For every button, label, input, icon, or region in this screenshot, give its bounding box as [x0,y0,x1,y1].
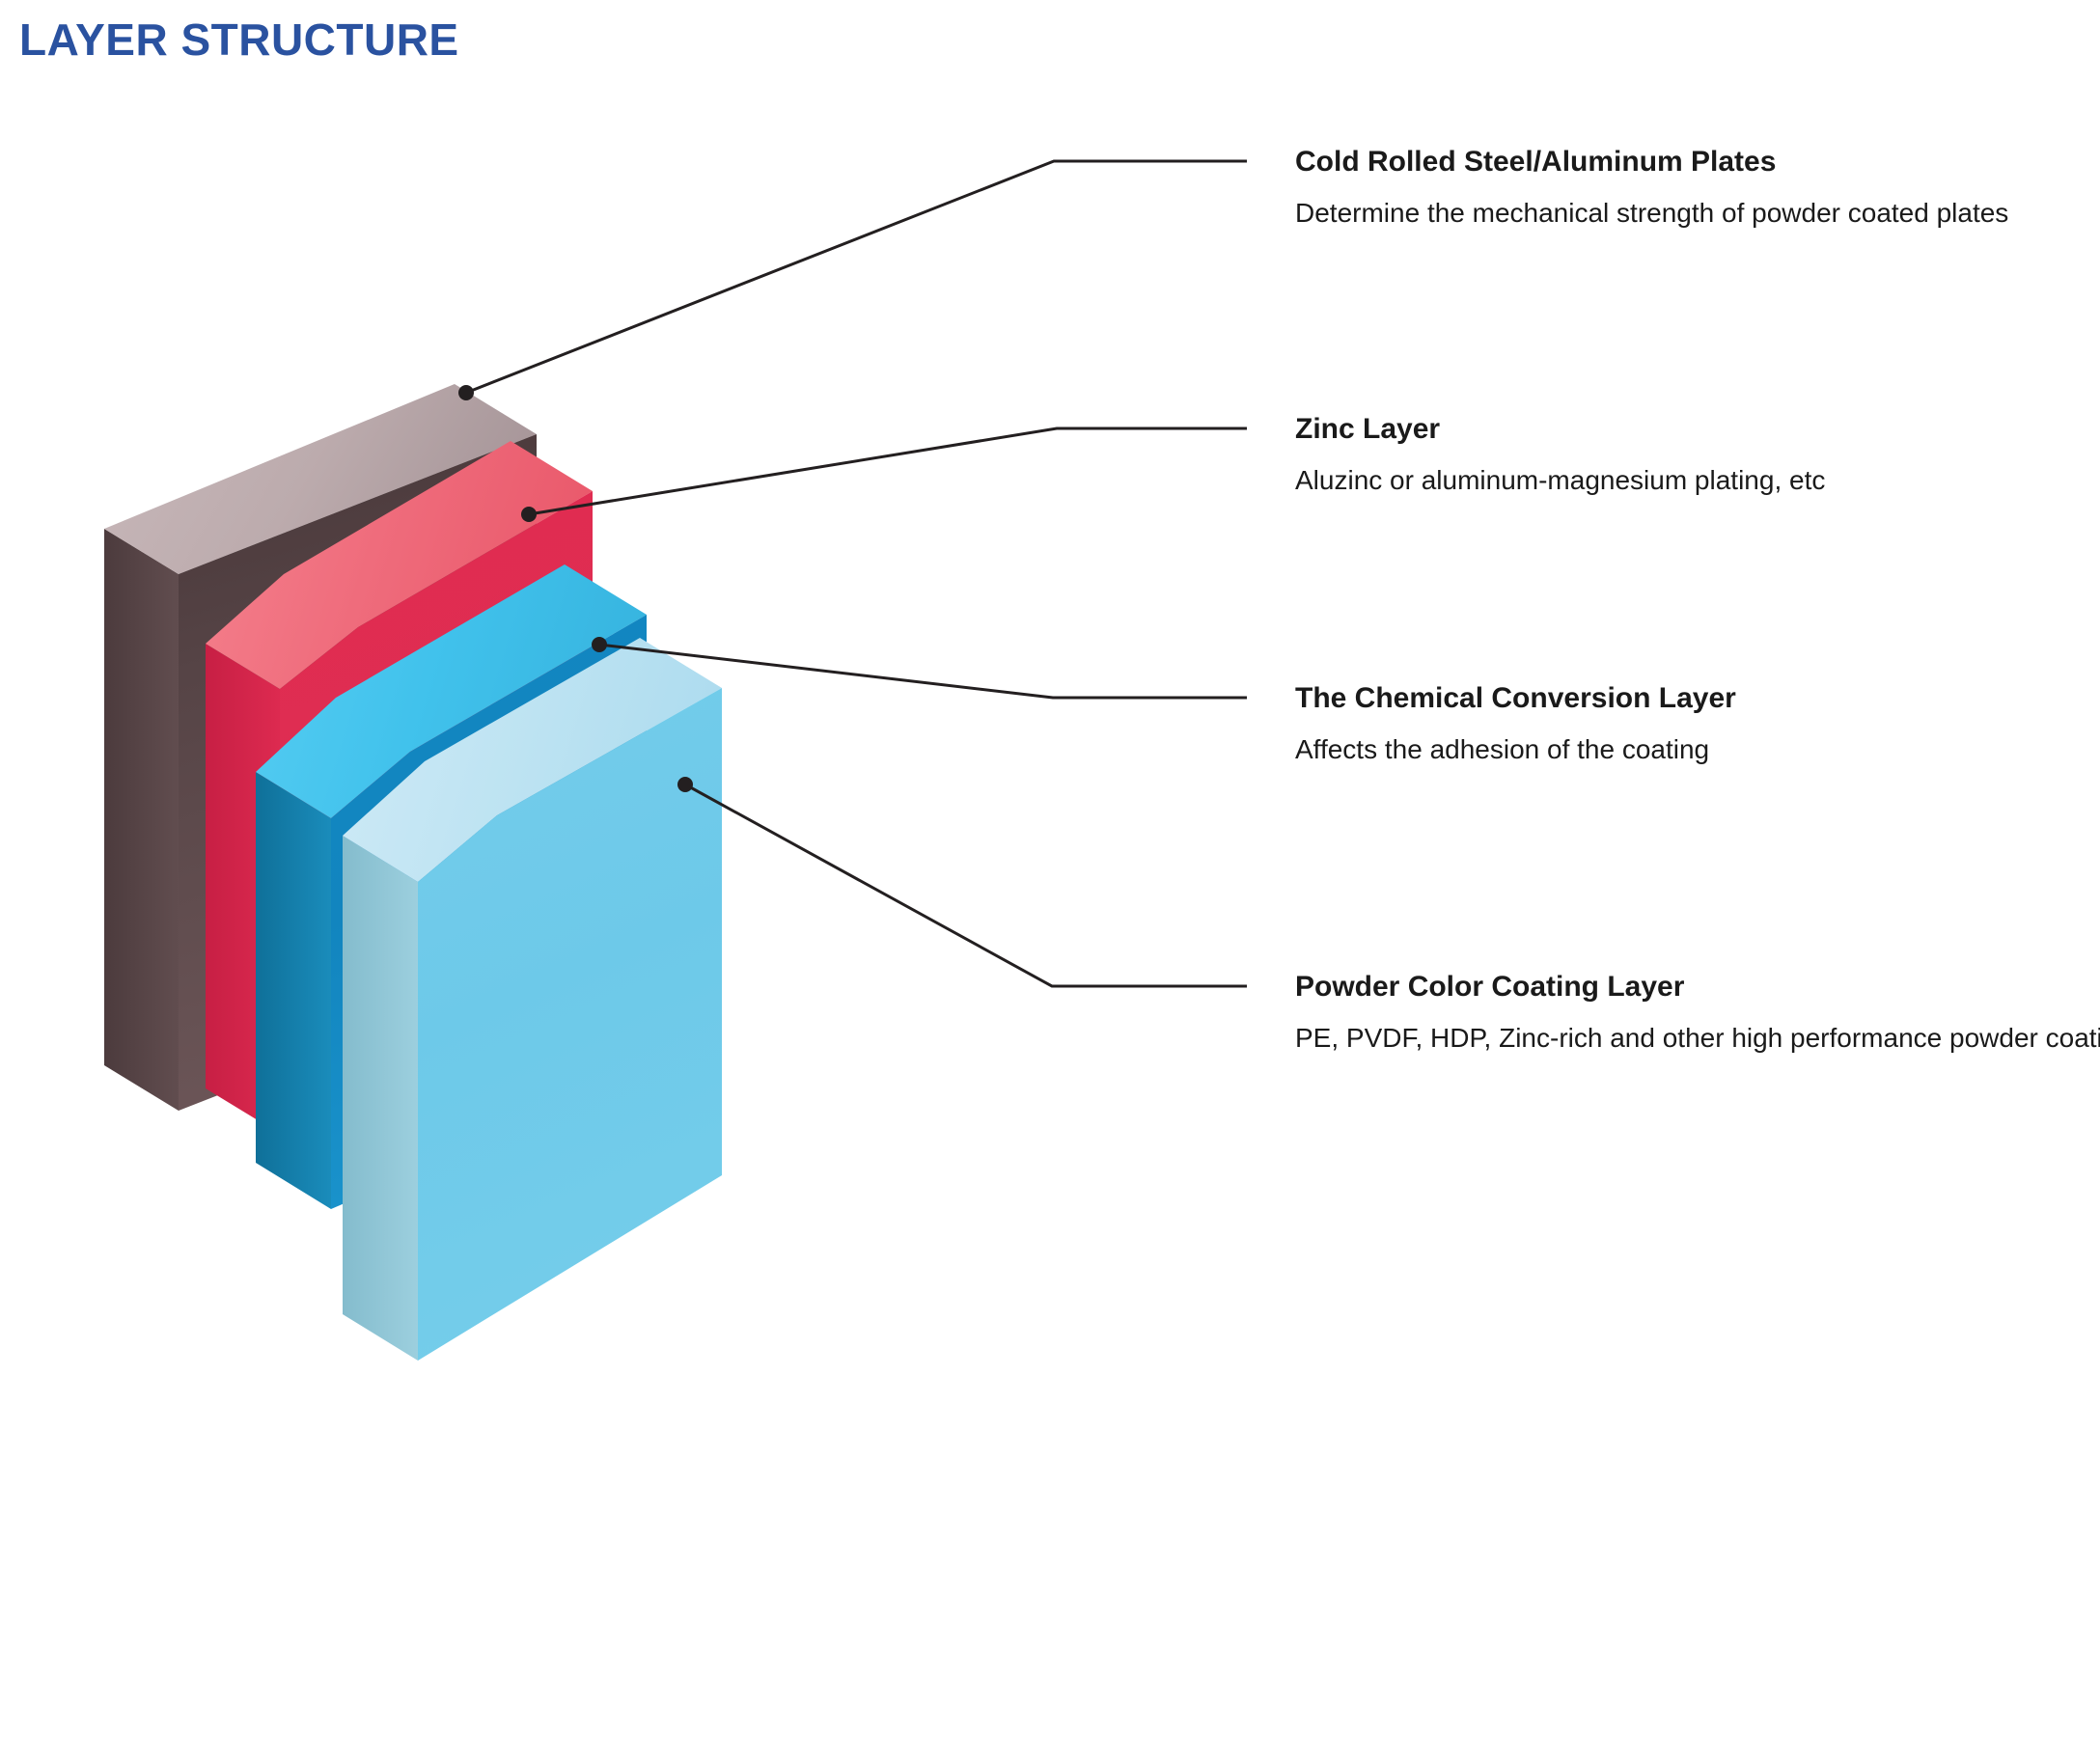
callout-desc-cold-rolled-steel-aluminum-plates: Determine the mechanical strength of pow… [1295,197,2008,230]
layer-structure-diagram [0,0,2100,1761]
callout-desc-chemical-conversion-layer: Affects the adhesion of the coating [1295,733,1736,766]
callout-title-powder-color-coating-layer: Powder Color Coating Layer [1295,970,2100,1004]
leader-line-cold-rolled-steel-aluminum-plates [466,161,1247,393]
layer1-side-face [104,529,179,1111]
callout-cold-rolled-steel-aluminum-plates: Cold Rolled Steel/Aluminum Plates Determ… [1295,145,2008,230]
callout-title-chemical-conversion-layer: The Chemical Conversion Layer [1295,681,1736,716]
callout-zinc-layer: Zinc Layer Aluzinc or aluminum-magnesium… [1295,412,1825,497]
leader-line-powder-color-coating-layer [685,784,1247,986]
leader-dot-powder-color-coating-layer [677,777,693,792]
callout-title-zinc-layer: Zinc Layer [1295,412,1825,447]
callout-desc-zinc-layer: Aluzinc or aluminum-magnesium plating, e… [1295,464,1825,497]
leader-dot-zinc-layer [521,507,537,522]
leader-dot-cold-rolled-steel-aluminum-plates [458,385,474,400]
leader-line-zinc-layer [529,428,1247,514]
callout-chemical-conversion-layer: The Chemical Conversion Layer Affects th… [1295,681,1736,766]
leader-dot-chemical-conversion-layer [592,637,607,652]
callout-desc-powder-color-coating-layer: PE, PVDF, HDP, Zinc-rich and other high … [1295,1022,2100,1055]
callout-powder-color-coating-layer: Powder Color Coating Layer PE, PVDF, HDP… [1295,970,2100,1055]
layer4-side-face [343,836,418,1361]
callout-title-cold-rolled-steel-aluminum-plates: Cold Rolled Steel/Aluminum Plates [1295,145,2008,179]
layer3-side-face [256,772,331,1209]
